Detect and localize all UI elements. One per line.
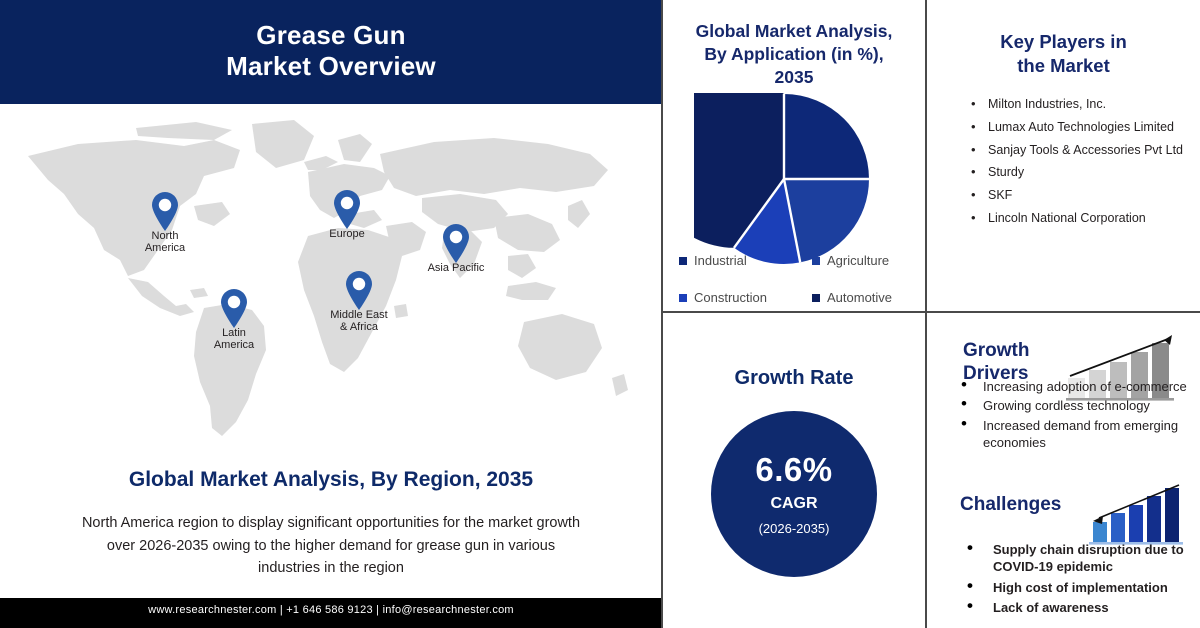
map-pin-asia-pacific[interactable]: Asia Pacific	[441, 224, 471, 264]
growth-drivers-title-line1: Growth	[963, 339, 1030, 362]
legend-item-industrial[interactable]: Industrial	[671, 253, 798, 268]
pie-legend: Industrial Agriculture Construction Auto…	[671, 253, 925, 305]
pin-label-line1: Middle East	[330, 309, 387, 321]
pie-slice-industrial[interactable]	[784, 94, 869, 179]
key-players-title-line1: Key Players in	[927, 30, 1200, 54]
region-section-title: Global Market Analysis, By Region, 2035	[0, 468, 662, 492]
legend-swatch-icon	[679, 257, 687, 265]
list-item: Growing cordless technology	[957, 397, 1200, 414]
pin-label-line1: North	[152, 230, 179, 242]
pin-label-line1: Asia Pacific	[428, 262, 485, 274]
pie-title-line3: 2035	[663, 66, 925, 89]
map-pin-label: Middle East & Africa	[330, 309, 387, 334]
legend-item-automotive[interactable]: Automotive	[798, 290, 925, 305]
location-pin-icon	[344, 271, 374, 311]
pin-label-line2: & Africa	[340, 321, 378, 333]
pie-chart	[694, 93, 880, 271]
map-pin-latin-america[interactable]: Latin America	[219, 289, 249, 329]
legend-label: Agriculture	[827, 253, 889, 268]
application-pie-panel: Global Market Analysis, By Application (…	[663, 0, 925, 311]
pie-title-line1: Global Market Analysis,	[663, 20, 925, 43]
list-item: Supply chain disruption due to COVID-19 …	[963, 541, 1200, 576]
legend-label: Automotive	[827, 290, 892, 305]
legend-item-construction[interactable]: Construction	[671, 290, 798, 305]
list-item: Lack of awareness	[963, 599, 1200, 616]
key-players-title-line2: the Market	[927, 54, 1200, 78]
map-pin-north-america[interactable]: North America	[150, 192, 180, 232]
cagr-period: (2026-2035)	[759, 521, 830, 536]
map-pin-label: Latin America	[214, 327, 254, 352]
world-map: North America Europe Asi	[0, 104, 662, 456]
list-item: Increasing adoption of e-commerce	[957, 378, 1200, 395]
legend-swatch-icon	[679, 294, 687, 302]
map-pin-middle-east-africa[interactable]: Middle East & Africa	[344, 271, 374, 311]
map-pin-label: Europe	[329, 228, 364, 240]
legend-row: Industrial Agriculture	[671, 253, 925, 268]
list-item: Sanjay Tools & Accessories Pvt Ltd	[969, 139, 1200, 162]
key-players-list: Milton Industries, Inc. Lumax Auto Techn…	[969, 93, 1200, 230]
page-title-line1: Grease Gun	[0, 20, 662, 51]
cagr-label: CAGR	[770, 495, 817, 513]
list-item: Sturdy	[969, 161, 1200, 184]
footer-contact-text: www.researchnester.com | +1 646 586 9123…	[0, 604, 662, 616]
legend-label: Industrial	[694, 253, 747, 268]
list-item: SKF	[969, 184, 1200, 207]
infographic-page: Grease Gun Market Overview	[0, 0, 1200, 628]
pin-label-line2: America	[214, 339, 254, 351]
list-item: Lumax Auto Technologies Limited	[969, 116, 1200, 139]
list-item: High cost of implementation	[963, 579, 1200, 596]
pie-panel-title: Global Market Analysis, By Application (…	[663, 20, 925, 89]
growth-rate-panel: Growth Rate 6.6% CAGR (2026-2035)	[663, 312, 925, 628]
cagr-badge: 6.6% CAGR (2026-2035)	[711, 411, 877, 577]
challenges-title-line1: Challenges	[960, 493, 1061, 516]
pie-chart-svg	[694, 93, 880, 271]
pin-label-line2: America	[145, 242, 185, 254]
map-pin-label: North America	[145, 230, 185, 255]
legend-row: Construction Automotive	[671, 290, 925, 305]
growth-drivers-list: Increasing adoption of e-commerce Growin…	[957, 378, 1200, 454]
list-item: Lincoln National Corporation	[969, 207, 1200, 230]
challenges-title: Challenges	[960, 493, 1061, 516]
pin-label-line1: Latin	[222, 327, 246, 339]
challenges-list: Supply chain disruption due to COVID-19 …	[963, 541, 1200, 619]
world-map-shape	[8, 110, 648, 440]
descending-arrow-bars-icon	[1087, 482, 1187, 548]
map-pin-label: Asia Pacific	[428, 262, 485, 274]
cagr-value: 6.6%	[755, 453, 832, 486]
key-players-panel: Key Players in the Market Milton Industr…	[927, 0, 1200, 311]
list-item: Increased demand from emerging economies	[957, 417, 1200, 452]
location-pin-icon	[219, 289, 249, 329]
location-pin-icon	[441, 224, 471, 264]
region-panel: Grease Gun Market Overview	[0, 0, 662, 628]
location-pin-icon	[150, 192, 180, 232]
location-pin-icon	[332, 190, 362, 230]
drivers-challenges-panel: Growth Drivers Increasing adoption of e-…	[927, 312, 1200, 628]
legend-label: Construction	[694, 290, 767, 305]
legend-item-agriculture[interactable]: Agriculture	[798, 253, 925, 268]
page-title: Grease Gun Market Overview	[0, 20, 662, 82]
legend-swatch-icon	[812, 294, 820, 302]
pin-label-line1: Europe	[329, 228, 364, 240]
map-pin-europe[interactable]: Europe	[332, 190, 362, 230]
page-title-line2: Market Overview	[0, 51, 662, 82]
key-players-title: Key Players in the Market	[927, 30, 1200, 79]
list-item: Milton Industries, Inc.	[969, 93, 1200, 116]
region-section-description: North America region to display signific…	[81, 512, 581, 580]
pie-title-line2: By Application (in %),	[663, 43, 925, 66]
legend-swatch-icon	[812, 257, 820, 265]
growth-rate-title: Growth Rate	[663, 367, 925, 390]
